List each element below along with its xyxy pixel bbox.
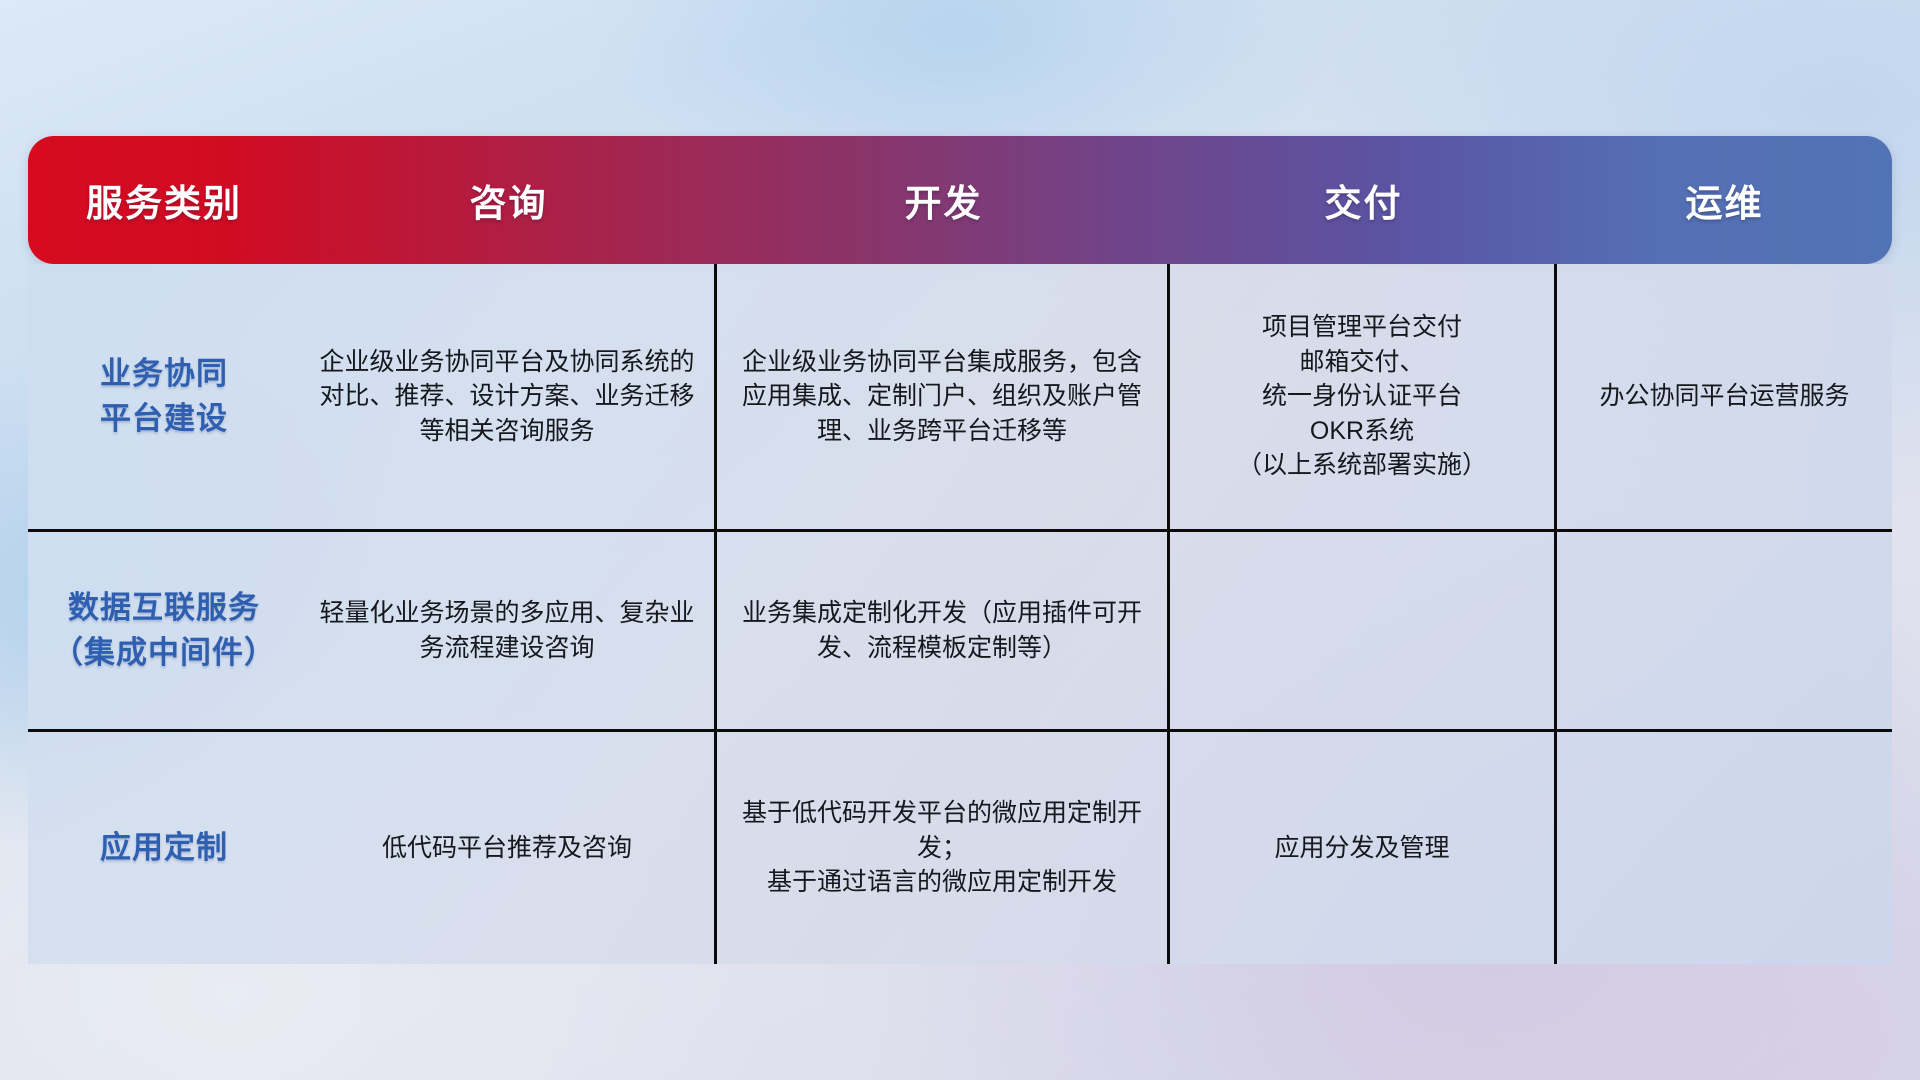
cell-development: 基于低代码开发平台的微应用定制开发； 基于通过语言的微应用定制开发 xyxy=(717,732,1170,964)
row-category-text: 数据互联服务（集成中间件） xyxy=(52,586,276,674)
header-cell-delivery: 交付 xyxy=(1170,136,1557,264)
table-header-row: 服务类别 咨询 开发 交付 运维 xyxy=(28,136,1892,264)
cell-development: 企业级业务协同平台集成服务，包含应用集成、定制门户、组织及账户管理、业务跨平台迁… xyxy=(717,264,1170,529)
cell-consulting-text: 企业级业务协同平台及协同系统的对比、推荐、设计方案、业务迁移等相关咨询服务 xyxy=(314,345,700,449)
table-row: 业务协同平台建设 企业级业务协同平台及协同系统的对比、推荐、设计方案、业务迁移等… xyxy=(28,264,1892,532)
table-body: 业务协同平台建设 企业级业务协同平台及协同系统的对比、推荐、设计方案、业务迁移等… xyxy=(28,264,1892,964)
cell-operations xyxy=(1557,732,1892,964)
cell-delivery-text: 项目管理平台交付 邮箱交付、 统一身份认证平台 OKR系统 （以上系统部署实施） xyxy=(1237,310,1487,483)
cell-operations: 办公协同平台运营服务 xyxy=(1557,264,1892,529)
cell-development-text: 企业级业务协同平台集成服务，包含应用集成、定制门户、组织及账户管理、业务跨平台迁… xyxy=(731,345,1153,449)
header-label-service-category: 服务类别 xyxy=(86,173,242,227)
cell-delivery-text: 应用分发及管理 xyxy=(1274,831,1449,866)
row-category-label: 数据互联服务（集成中间件） xyxy=(28,532,300,729)
cell-development: 业务集成定制化开发（应用插件可开发、流程模板定制等） xyxy=(717,532,1170,729)
cell-delivery: 项目管理平台交付 邮箱交付、 统一身份认证平台 OKR系统 （以上系统部署实施） xyxy=(1170,264,1557,529)
row-category-text: 应用定制 xyxy=(100,826,228,870)
header-label-delivery: 交付 xyxy=(1325,173,1403,227)
header-cell-consulting: 咨询 xyxy=(300,136,717,264)
header-cell-operations: 运维 xyxy=(1557,136,1892,264)
table-row: 数据互联服务（集成中间件） 轻量化业务场景的多应用、复杂业务流程建设咨询 业务集… xyxy=(28,532,1892,732)
row-category-text: 业务协同平台建设 xyxy=(100,352,228,440)
table-row: 应用定制 低代码平台推荐及咨询 基于低代码开发平台的微应用定制开发； 基于通过语… xyxy=(28,732,1892,964)
cell-delivery xyxy=(1170,532,1557,729)
cell-consulting-text: 低代码平台推荐及咨询 xyxy=(382,831,632,866)
cell-consulting: 低代码平台推荐及咨询 xyxy=(300,732,717,964)
cell-development-text: 基于低代码开发平台的微应用定制开发； 基于通过语言的微应用定制开发 xyxy=(731,796,1153,900)
header-label-development: 开发 xyxy=(905,173,983,227)
cell-operations xyxy=(1557,532,1892,729)
cell-development-text: 业务集成定制化开发（应用插件可开发、流程模板定制等） xyxy=(731,596,1153,665)
header-label-consulting: 咨询 xyxy=(470,173,548,227)
service-matrix-table: 服务类别 咨询 开发 交付 运维 业务协同平台建设 企业级业务协同平台及协同系统… xyxy=(28,136,1892,964)
cell-consulting-text: 轻量化业务场景的多应用、复杂业务流程建设咨询 xyxy=(314,596,700,665)
cell-consulting: 企业级业务协同平台及协同系统的对比、推荐、设计方案、业务迁移等相关咨询服务 xyxy=(300,264,717,529)
cell-consulting: 轻量化业务场景的多应用、复杂业务流程建设咨询 xyxy=(300,532,717,729)
header-cell-development: 开发 xyxy=(717,136,1170,264)
header-label-operations: 运维 xyxy=(1686,173,1764,227)
row-category-label: 应用定制 xyxy=(28,732,300,964)
cell-delivery: 应用分发及管理 xyxy=(1170,732,1557,964)
row-category-label: 业务协同平台建设 xyxy=(28,264,300,529)
header-cell-service-category: 服务类别 xyxy=(28,136,300,264)
cell-operations-text: 办公协同平台运营服务 xyxy=(1599,379,1849,414)
